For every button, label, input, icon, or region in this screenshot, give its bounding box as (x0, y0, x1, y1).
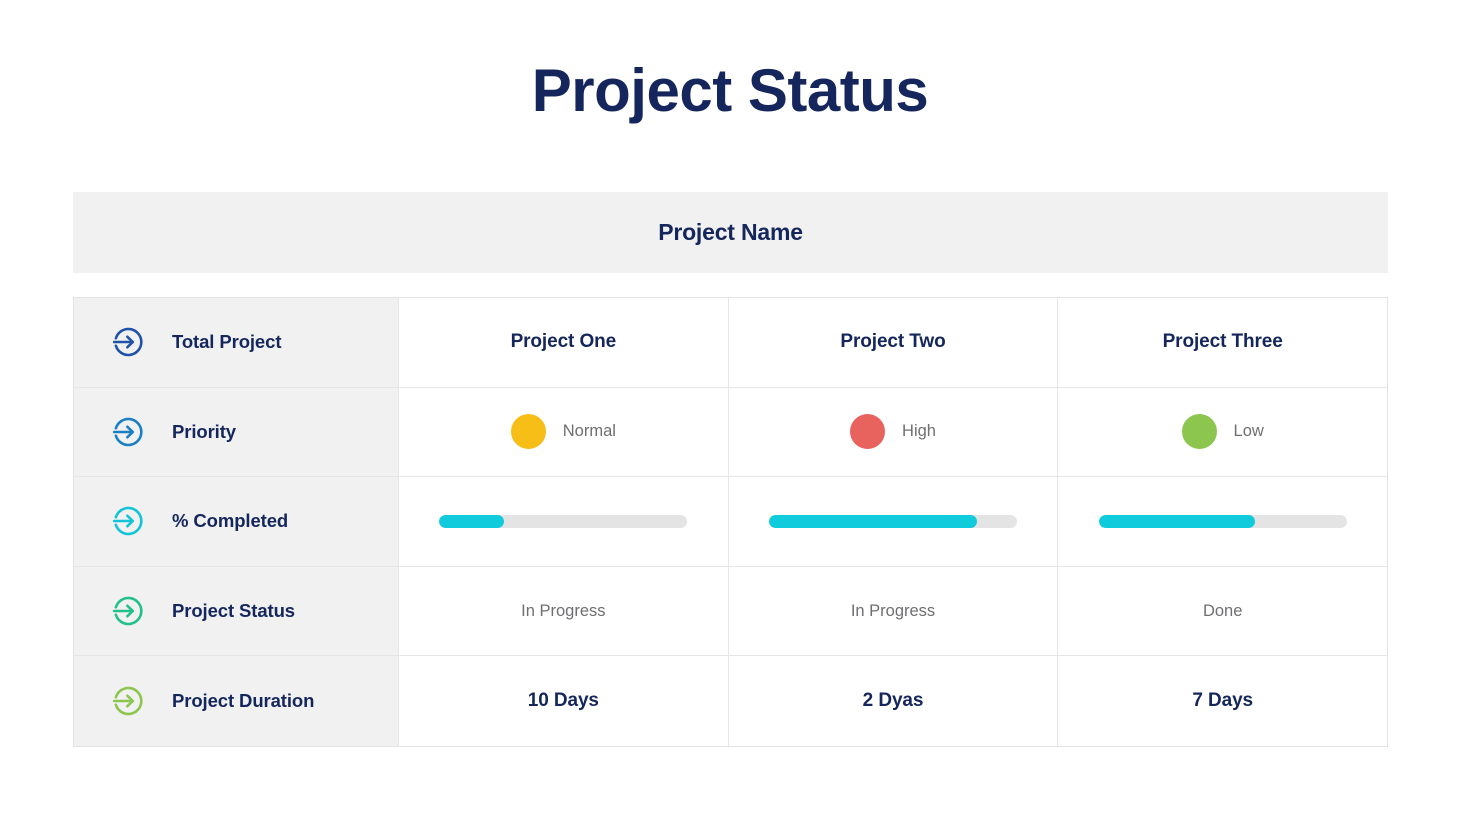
arrow-right-circle-icon (112, 595, 144, 627)
progress-bar (769, 515, 1017, 528)
priority-indicator: Normal (511, 414, 616, 449)
priority-indicator: Low (1182, 414, 1264, 449)
row-label: Priority (172, 421, 236, 443)
progress-bar (439, 515, 687, 528)
row-value-cell (399, 477, 729, 566)
arrow-right-circle-icon (112, 685, 144, 717)
priority-label: High (902, 422, 936, 441)
table-row: Project Duration10 Days2 Dyas7 Days (74, 656, 1387, 746)
row-value-cell: Normal (399, 388, 729, 477)
progress-bar-fill (1099, 515, 1255, 528)
table-row: Total ProjectProject OneProject TwoProje… (74, 298, 1387, 388)
priority-label: Low (1234, 422, 1264, 441)
row-label: % Completed (172, 510, 288, 532)
row-value-cell: Project Two (729, 298, 1059, 387)
row-value-cell: 7 Days (1058, 656, 1387, 746)
row-label-cell: Project Duration (74, 656, 399, 746)
arrow-right-circle-icon (112, 505, 144, 537)
priority-indicator: High (850, 414, 936, 449)
cell-value: 10 Days (528, 690, 599, 712)
priority-dot-icon (850, 414, 885, 449)
table-row: PriorityNormalHighLow (74, 388, 1387, 478)
project-status-table: Total ProjectProject OneProject TwoProje… (73, 297, 1388, 747)
row-label-cell: Project Status (74, 567, 399, 656)
priority-dot-icon (511, 414, 546, 449)
row-label: Project Status (172, 600, 295, 622)
column-header-label: Project Two (840, 331, 945, 353)
row-value-cell: High (729, 388, 1059, 477)
row-label: Total Project (172, 331, 281, 353)
page-title: Project Status (0, 58, 1460, 124)
arrow-right-circle-icon (112, 416, 144, 448)
arrow-right-circle-icon (112, 326, 144, 358)
row-value-cell: Project Three (1058, 298, 1387, 387)
progress-bar (1099, 515, 1347, 528)
cell-value: Done (1203, 602, 1242, 621)
column-header-label: Project Three (1163, 331, 1283, 353)
row-value-cell (729, 477, 1059, 566)
row-label-cell: Total Project (74, 298, 399, 387)
table-row: % Completed (74, 477, 1387, 567)
row-value-cell: Project One (399, 298, 729, 387)
project-name-header-bar: Project Name (73, 192, 1388, 273)
column-header-label: Project One (511, 331, 617, 353)
table-row: Project StatusIn ProgressIn ProgressDone (74, 567, 1387, 657)
priority-dot-icon (1182, 414, 1217, 449)
row-value-cell: In Progress (729, 567, 1059, 656)
slide-root: Project Status Project Name Total Projec… (0, 0, 1460, 821)
cell-value: 7 Days (1192, 690, 1253, 712)
cell-value: 2 Dyas (863, 690, 924, 712)
row-label-cell: Priority (74, 388, 399, 477)
row-label-cell: % Completed (74, 477, 399, 566)
progress-bar-fill (769, 515, 977, 528)
row-value-cell: Low (1058, 388, 1387, 477)
row-value-cell: In Progress (399, 567, 729, 656)
progress-bar-fill (439, 515, 503, 528)
row-label: Project Duration (172, 690, 314, 712)
row-value-cell (1058, 477, 1387, 566)
project-name-header-label: Project Name (658, 219, 803, 246)
row-value-cell: 2 Dyas (729, 656, 1059, 746)
row-value-cell: 10 Days (399, 656, 729, 746)
priority-label: Normal (563, 422, 616, 441)
cell-value: In Progress (851, 602, 935, 621)
row-value-cell: Done (1058, 567, 1387, 656)
cell-value: In Progress (521, 602, 605, 621)
